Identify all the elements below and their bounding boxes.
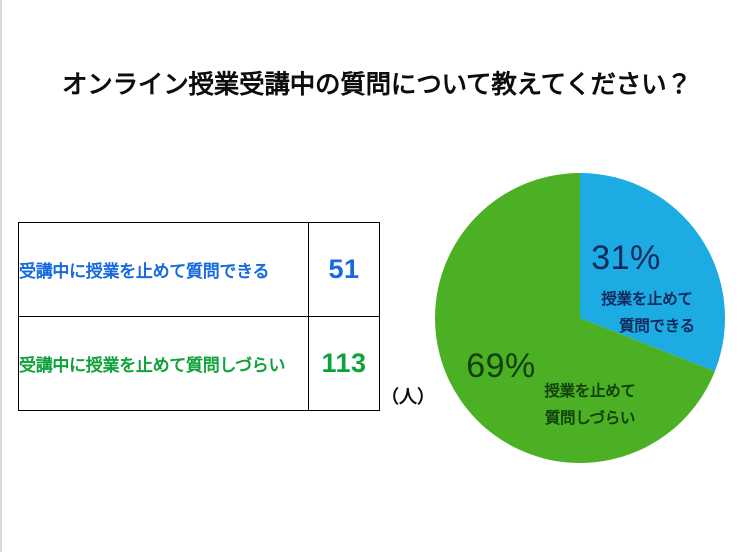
slide-canvas: オンライン授業受講中の質問について教えてください？ 受講中に授業を止めて質問でき… — [0, 0, 740, 552]
left-edge-rule — [0, 0, 2, 552]
table-row: 受講中に授業を止めて質問しづらい 113 — [19, 317, 380, 411]
pie-slice-caption-line1: 授業を止めて — [601, 289, 692, 308]
page-title: オンライン授業受講中の質問について教えてください？ — [62, 70, 682, 101]
pie-slice-caption-line1: 授業を止めて — [544, 381, 635, 400]
pie-percent-label: 69% — [466, 347, 536, 385]
table-cell-label: 受講中に授業を止めて質問できる — [19, 223, 309, 317]
pie-slice-caption-line2: 質問しづらい — [545, 408, 635, 427]
table-cell-label: 受講中に授業を止めて質問しづらい — [19, 317, 309, 411]
table-row: 受講中に授業を止めて質問できる 51 — [19, 223, 380, 317]
table-cell-value: 113 — [309, 317, 380, 411]
table-cell-value: 51 — [309, 223, 380, 317]
data-table: 受講中に授業を止めて質問できる 51 受講中に授業を止めて質問しづらい 113 — [18, 222, 380, 411]
pie-percent-label: 31% — [591, 239, 661, 277]
pie-slice-caption-line2: 質問できる — [619, 316, 695, 335]
unit-label: （人） — [381, 383, 435, 409]
pie-chart: 31% 授業を止めて 質問できる 69% 授業を止めて 質問しづらい — [435, 173, 725, 463]
